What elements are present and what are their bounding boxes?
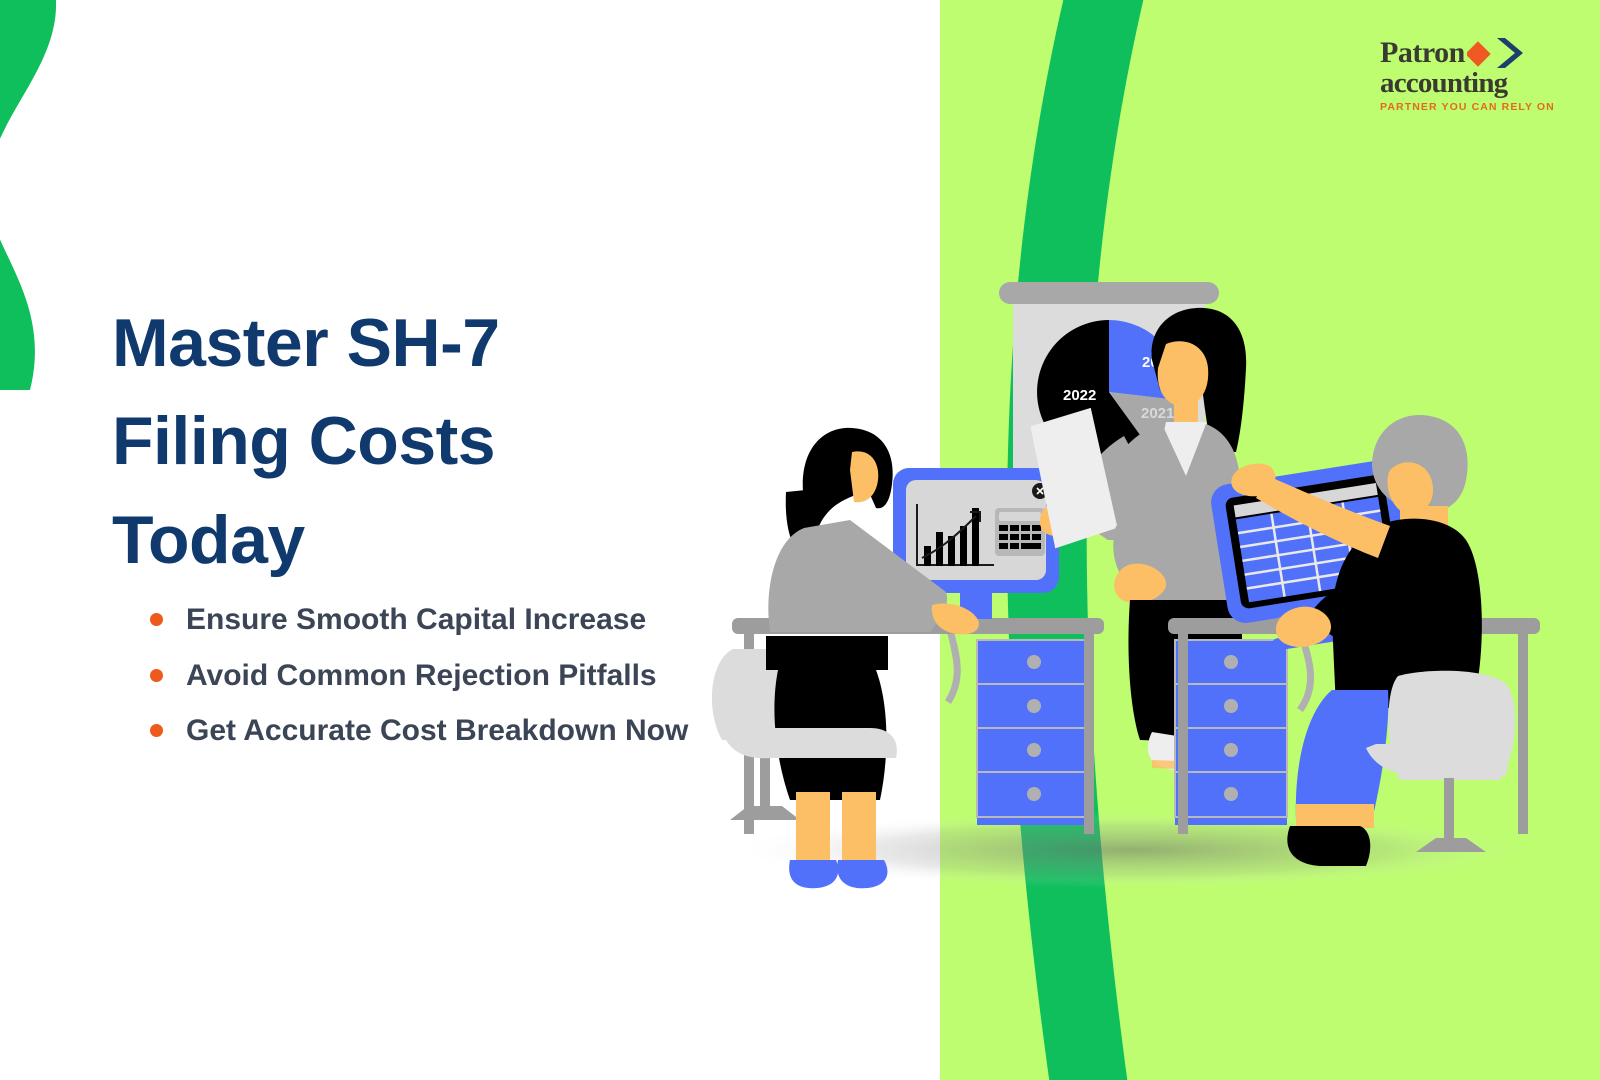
logo-tagline: PARTNER YOU CAN RELY ON xyxy=(1380,101,1558,113)
headline-line-1: Master SH-7 xyxy=(112,294,732,393)
logo-primary-row: Patron xyxy=(1380,36,1558,70)
shoe-left xyxy=(789,860,838,888)
chevron-arrow-icon xyxy=(1467,36,1529,70)
list-item: Avoid Common Rejection Pitfalls xyxy=(146,648,766,704)
shoe xyxy=(1287,826,1370,866)
list-item: Get Accurate Cost Breakdown Now xyxy=(146,703,766,759)
screen-calculator xyxy=(995,508,1045,556)
brand-logo: Patron accounting PARTNER YOU CAN RELY O… xyxy=(1380,36,1558,113)
hair xyxy=(803,428,893,534)
office-illustration: 2020 2021 2022 xyxy=(700,240,1600,920)
list-item: Ensure Smooth Capital Increase xyxy=(146,592,766,648)
logo-word-accounting: accounting xyxy=(1380,68,1558,98)
shoe-right xyxy=(837,860,887,888)
pie-label-2022: 2022 xyxy=(1063,387,1096,404)
leg-left xyxy=(796,792,830,870)
pie-label-2021: 2021 xyxy=(1141,405,1174,422)
leg-right xyxy=(842,792,876,870)
logo-word-patron: Patron xyxy=(1380,38,1465,68)
headline-line-3: Today xyxy=(112,491,732,590)
page-title: Master SH-7 Filing Costs Today xyxy=(112,294,732,590)
benefit-list: Ensure Smooth Capital Increase Avoid Com… xyxy=(146,592,766,759)
face xyxy=(1158,341,1209,406)
headline-line-2: Filing Costs xyxy=(112,392,732,491)
poster-canvas: Patron accounting PARTNER YOU CAN RELY O… xyxy=(0,0,1600,1080)
